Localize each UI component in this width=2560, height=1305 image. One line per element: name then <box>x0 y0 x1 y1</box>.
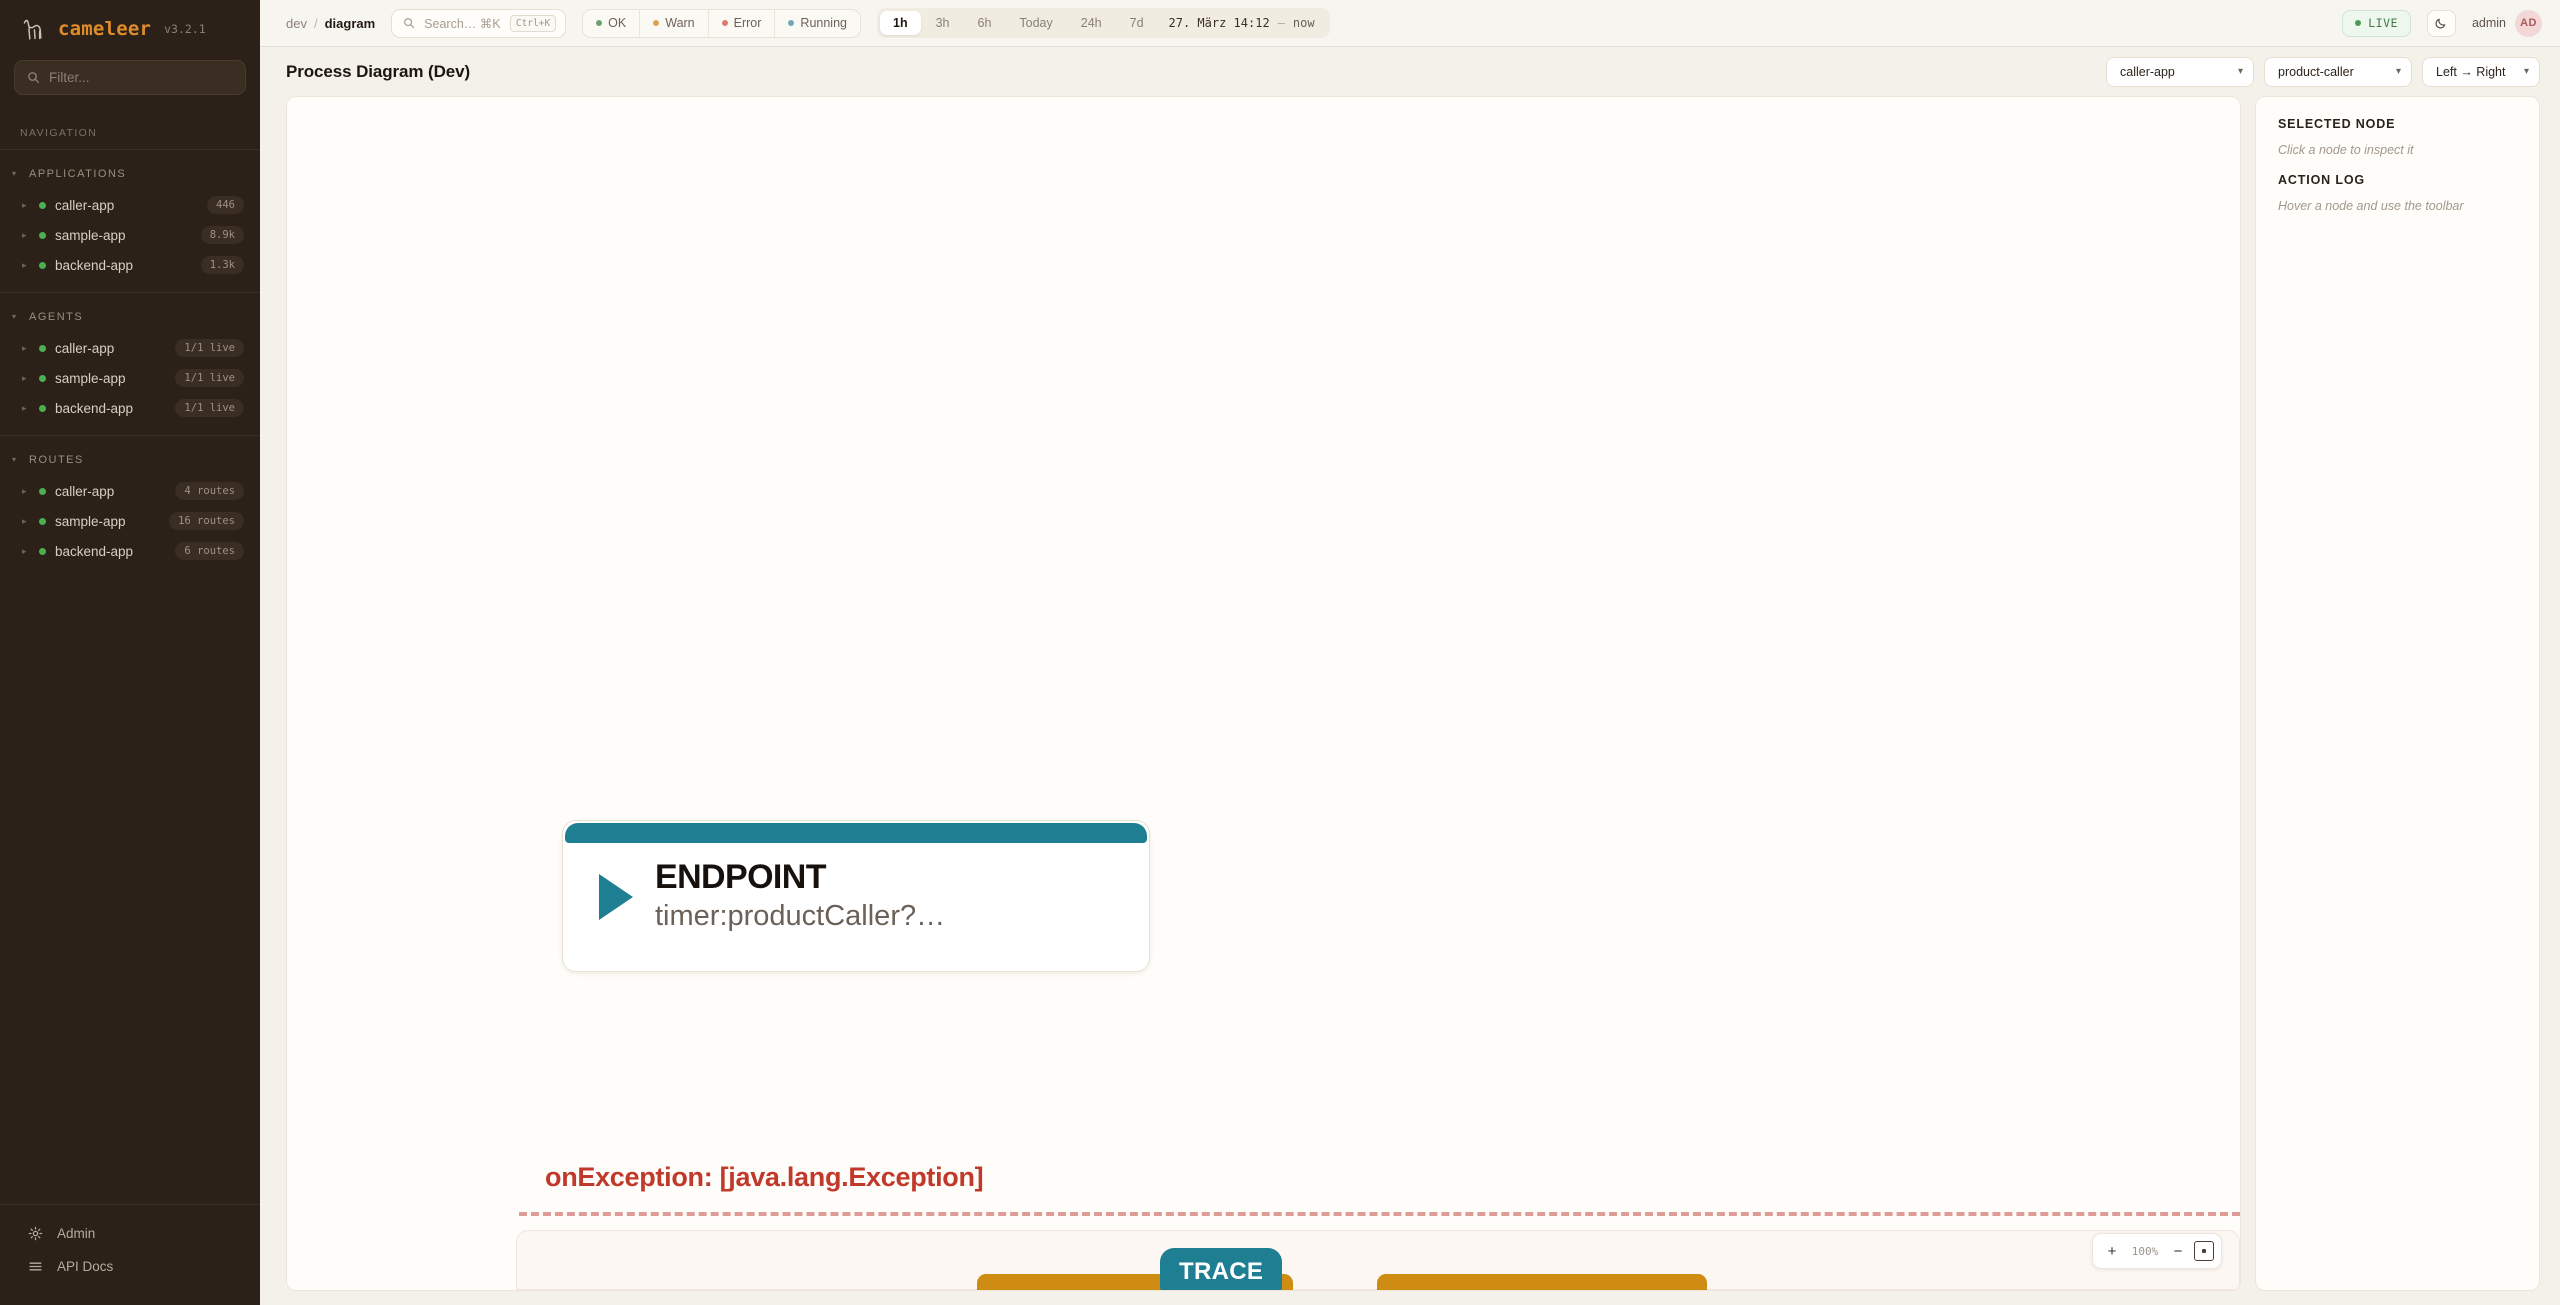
node-header-bar <box>565 823 1147 843</box>
chevron-right-icon: ▸ <box>22 487 30 496</box>
status-pill-running[interactable]: Running <box>775 10 860 37</box>
sidebar-item-label: sample-app <box>55 228 192 243</box>
chevron-down-icon: ▾ <box>2396 67 2401 77</box>
time-range-from: 27. März 14:12 <box>1169 16 1270 30</box>
fit-view-icon[interactable] <box>2194 1241 2214 1261</box>
action-log-title: ACTION LOG <box>2278 173 2519 187</box>
status-dot <box>39 518 46 525</box>
sidebar-item-badge: 446 <box>207 196 244 214</box>
group-title: AGENTS <box>29 311 83 323</box>
time-range-to: now <box>1293 16 1315 30</box>
sidebar-item-label: backend-app <box>55 401 166 416</box>
sidebar-item-badge: 4 routes <box>175 482 244 500</box>
breadcrumb-separator: / <box>314 16 318 31</box>
status-dot <box>39 202 46 209</box>
breadcrumb-root[interactable]: dev <box>286 16 307 31</box>
menu-icon <box>28 1259 43 1274</box>
live-badge[interactable]: LIVE <box>2342 10 2411 37</box>
live-dot <box>2355 20 2361 26</box>
chevron-down-icon: ▾ <box>12 170 19 178</box>
content-area: ENDPOINT timer:productCaller?… onExcepti… <box>260 96 2560 1305</box>
status-dot <box>722 20 728 26</box>
page-toolbar: Process Diagram (Dev) caller-app ▾ produ… <box>260 47 2560 96</box>
group-header-routes[interactable]: ▾ ROUTES <box>0 446 260 476</box>
sidebar-item-agents-caller-app[interactable]: ▸ caller-app 1/1 live <box>0 333 260 363</box>
brand-version: v3.2.1 <box>164 22 206 36</box>
search-placeholder: Search… ⌘K <box>424 16 501 31</box>
sidebar-item-badge: 8.9k <box>201 226 244 244</box>
sidebar-item-label: caller-app <box>55 484 166 499</box>
chevron-right-icon: ▸ <box>22 404 30 413</box>
search-icon <box>403 17 415 29</box>
time-range-24h[interactable]: 24h <box>1068 11 1115 35</box>
status-filter-group: OK Warn Error Running <box>582 9 861 38</box>
page-title: Process Diagram (Dev) <box>286 62 470 82</box>
breadcrumb-current: diagram <box>325 16 376 31</box>
status-dot <box>39 548 46 555</box>
top-bar: dev / diagram Search… ⌘K Ctrl+K OK Warn <box>260 0 2560 47</box>
sidebar-item-label: caller-app <box>55 341 166 356</box>
chevron-right-icon: ▸ <box>22 547 30 556</box>
sidebar-item-routes-sample-app[interactable]: ▸ sample-app 16 routes <box>0 506 260 536</box>
theme-toggle-button[interactable] <box>2427 10 2456 37</box>
brand-name: cameleer <box>58 18 151 40</box>
time-range-3h[interactable]: 3h <box>923 11 963 35</box>
chevron-down-icon: ▾ <box>12 456 19 464</box>
sidebar-item-badge: 16 routes <box>169 512 244 530</box>
sidebar-item-badge: 1/1 live <box>175 369 244 387</box>
sidebar-item-label: API Docs <box>57 1259 113 1274</box>
status-dot <box>39 232 46 239</box>
search-input[interactable]: Search… ⌘K Ctrl+K <box>391 9 566 38</box>
time-range-dash: – <box>1278 16 1285 30</box>
status-pill-label: OK <box>608 16 626 30</box>
inspector-panel: SELECTED NODE Click a node to inspect it… <box>2255 96 2540 1291</box>
node-texts: ENDPOINT timer:productCaller?… <box>655 859 945 935</box>
sidebar-item-badge: 1.3k <box>201 256 244 274</box>
chevron-right-icon: ▸ <box>22 374 30 383</box>
chevron-right-icon: ▸ <box>22 261 30 270</box>
nav-group-agents: ▾ AGENTS ▸ caller-app 1/1 live ▸ sample-… <box>0 292 260 435</box>
diagram-node-partial-2[interactable] <box>1377 1274 1707 1291</box>
selected-node-hint: Click a node to inspect it <box>2278 143 2519 157</box>
status-pill-label: Error <box>734 16 762 30</box>
status-pill-error[interactable]: Error <box>709 10 776 37</box>
sidebar-filter <box>0 56 260 109</box>
nav-group-routes: ▾ ROUTES ▸ caller-app 4 routes ▸ sample-… <box>0 435 260 578</box>
breadcrumb: dev / diagram <box>286 16 375 31</box>
sidebar-item-routes-backend-app[interactable]: ▸ backend-app 6 routes <box>0 536 260 566</box>
search-shortcut-badge: Ctrl+K <box>510 15 556 32</box>
status-pill-ok[interactable]: OK <box>583 10 640 37</box>
filter-box[interactable] <box>14 60 246 95</box>
chevron-right-icon: ▸ <box>22 231 30 240</box>
diagram-selectors: caller-app ▾ product-caller ▾ Left → Rig… <box>2106 57 2540 87</box>
selected-node-title: SELECTED NODE <box>2278 117 2519 131</box>
status-dot <box>596 20 602 26</box>
zoom-level: 100% <box>2128 1245 2162 1258</box>
zoom-out-button[interactable]: − <box>2166 1239 2190 1263</box>
status-dot <box>653 20 659 26</box>
sidebar-item-label: Admin <box>57 1226 95 1241</box>
sidebar-item-label: caller-app <box>55 198 198 213</box>
diagram-canvas[interactable]: ENDPOINT timer:productCaller?… onExcepti… <box>286 96 2241 1291</box>
sidebar-nav: NAVIGATION ▾ APPLICATIONS ▸ caller-app 4… <box>0 109 260 1204</box>
sidebar-item-label: sample-app <box>55 371 166 386</box>
group-title: ROUTES <box>29 454 84 466</box>
route-select-value: product-caller <box>2278 65 2354 79</box>
sidebar-item-applications-caller-app[interactable]: ▸ caller-app 446 <box>0 190 260 220</box>
direction-select[interactable]: Left → Right ▾ <box>2422 57 2540 87</box>
status-dot <box>39 375 46 382</box>
sidebar-item-api-docs[interactable]: API Docs <box>0 1250 260 1283</box>
sidebar-item-badge: 1/1 live <box>175 339 244 357</box>
live-label: LIVE <box>2368 16 2398 30</box>
zoom-in-button[interactable]: + <box>2100 1239 2124 1263</box>
moon-icon <box>2434 16 2448 30</box>
user-name: admin <box>2472 16 2506 30</box>
status-dot <box>39 405 46 412</box>
chevron-right-icon: ▸ <box>22 344 30 353</box>
time-range-group: 1h 3h 6h Today 24h 7d 27. März 14:12 – n… <box>877 8 1330 38</box>
sidebar-item-agents-sample-app[interactable]: ▸ sample-app 1/1 live <box>0 363 260 393</box>
sidebar-item-label: backend-app <box>55 544 166 559</box>
sidebar-item-badge: 1/1 live <box>175 399 244 417</box>
sidebar-item-applications-backend-app[interactable]: ▸ backend-app 1.3k <box>0 250 260 280</box>
nav-heading: NAVIGATION <box>0 115 260 149</box>
status-pill-label: Running <box>800 16 847 30</box>
user-menu[interactable]: admin AD <box>2472 10 2542 37</box>
status-dot <box>788 20 794 26</box>
node-body: ENDPOINT timer:productCaller?… <box>563 843 1149 935</box>
chevron-right-icon: ▸ <box>22 201 30 210</box>
play-triangle-icon <box>599 874 633 920</box>
trace-chip[interactable]: TRACE <box>1160 1248 1282 1291</box>
application-select[interactable]: caller-app ▾ <box>2106 57 2254 87</box>
zoom-controls: + 100% − <box>2092 1233 2222 1269</box>
sidebar-item-agents-backend-app[interactable]: ▸ backend-app 1/1 live <box>0 393 260 423</box>
chevron-down-icon: ▾ <box>2524 67 2529 77</box>
status-pill-warn[interactable]: Warn <box>640 10 708 37</box>
status-dot <box>39 488 46 495</box>
time-range-7d[interactable]: 7d <box>1117 11 1157 35</box>
sidebar-item-label: backend-app <box>55 258 192 273</box>
route-select[interactable]: product-caller ▾ <box>2264 57 2412 87</box>
chevron-down-icon: ▾ <box>12 313 19 321</box>
status-pill-label: Warn <box>665 16 694 30</box>
group-header-applications[interactable]: ▾ APPLICATIONS <box>0 160 260 190</box>
time-range-custom[interactable]: 27. März 14:12 – now <box>1159 16 1327 30</box>
status-dot <box>39 345 46 352</box>
action-log-hint: Hover a node and use the toolbar <box>2278 199 2519 213</box>
nav-group-applications: ▾ APPLICATIONS ▸ caller-app 446 ▸ sample… <box>0 149 260 292</box>
node-uri-label: timer:productCaller?… <box>655 898 945 934</box>
app-root: cameleer v3.2.1 NAVIGATION ▾ APPLICATION… <box>0 0 2560 1305</box>
chevron-down-icon: ▾ <box>2238 67 2243 77</box>
sidebar-item-badge: 6 routes <box>175 542 244 560</box>
main-area: dev / diagram Search… ⌘K Ctrl+K OK Warn <box>260 0 2560 1305</box>
exception-divider <box>519 1212 2240 1216</box>
sidebar-footer: Admin API Docs <box>0 1204 260 1305</box>
camel-icon <box>20 16 48 42</box>
sidebar-item-admin[interactable]: Admin <box>0 1217 260 1250</box>
time-range-1h[interactable]: 1h <box>880 11 921 35</box>
application-select-value: caller-app <box>2120 65 2175 79</box>
group-header-agents[interactable]: ▾ AGENTS <box>0 303 260 333</box>
direction-select-value: Left → Right <box>2436 65 2505 79</box>
brand[interactable]: cameleer v3.2.1 <box>0 0 260 56</box>
group-title: APPLICATIONS <box>29 168 126 180</box>
filter-input[interactable] <box>49 70 233 85</box>
sidebar-item-routes-caller-app[interactable]: ▸ caller-app 4 routes <box>0 476 260 506</box>
diagram-node-endpoint[interactable]: ENDPOINT timer:productCaller?… <box>562 820 1150 972</box>
time-range-today[interactable]: Today <box>1006 11 1065 35</box>
sidebar: cameleer v3.2.1 NAVIGATION ▾ APPLICATION… <box>0 0 260 1305</box>
avatar: AD <box>2515 10 2542 37</box>
time-range-6h[interactable]: 6h <box>965 11 1005 35</box>
chevron-right-icon: ▸ <box>22 517 30 526</box>
sidebar-item-applications-sample-app[interactable]: ▸ sample-app 8.9k <box>0 220 260 250</box>
search-icon <box>27 71 40 84</box>
status-dot <box>39 262 46 269</box>
exception-label: onException: [java.lang.Exception] <box>545 1162 983 1193</box>
gear-icon <box>28 1226 43 1241</box>
sidebar-item-label: sample-app <box>55 514 160 529</box>
node-kind-label: ENDPOINT <box>655 859 945 896</box>
